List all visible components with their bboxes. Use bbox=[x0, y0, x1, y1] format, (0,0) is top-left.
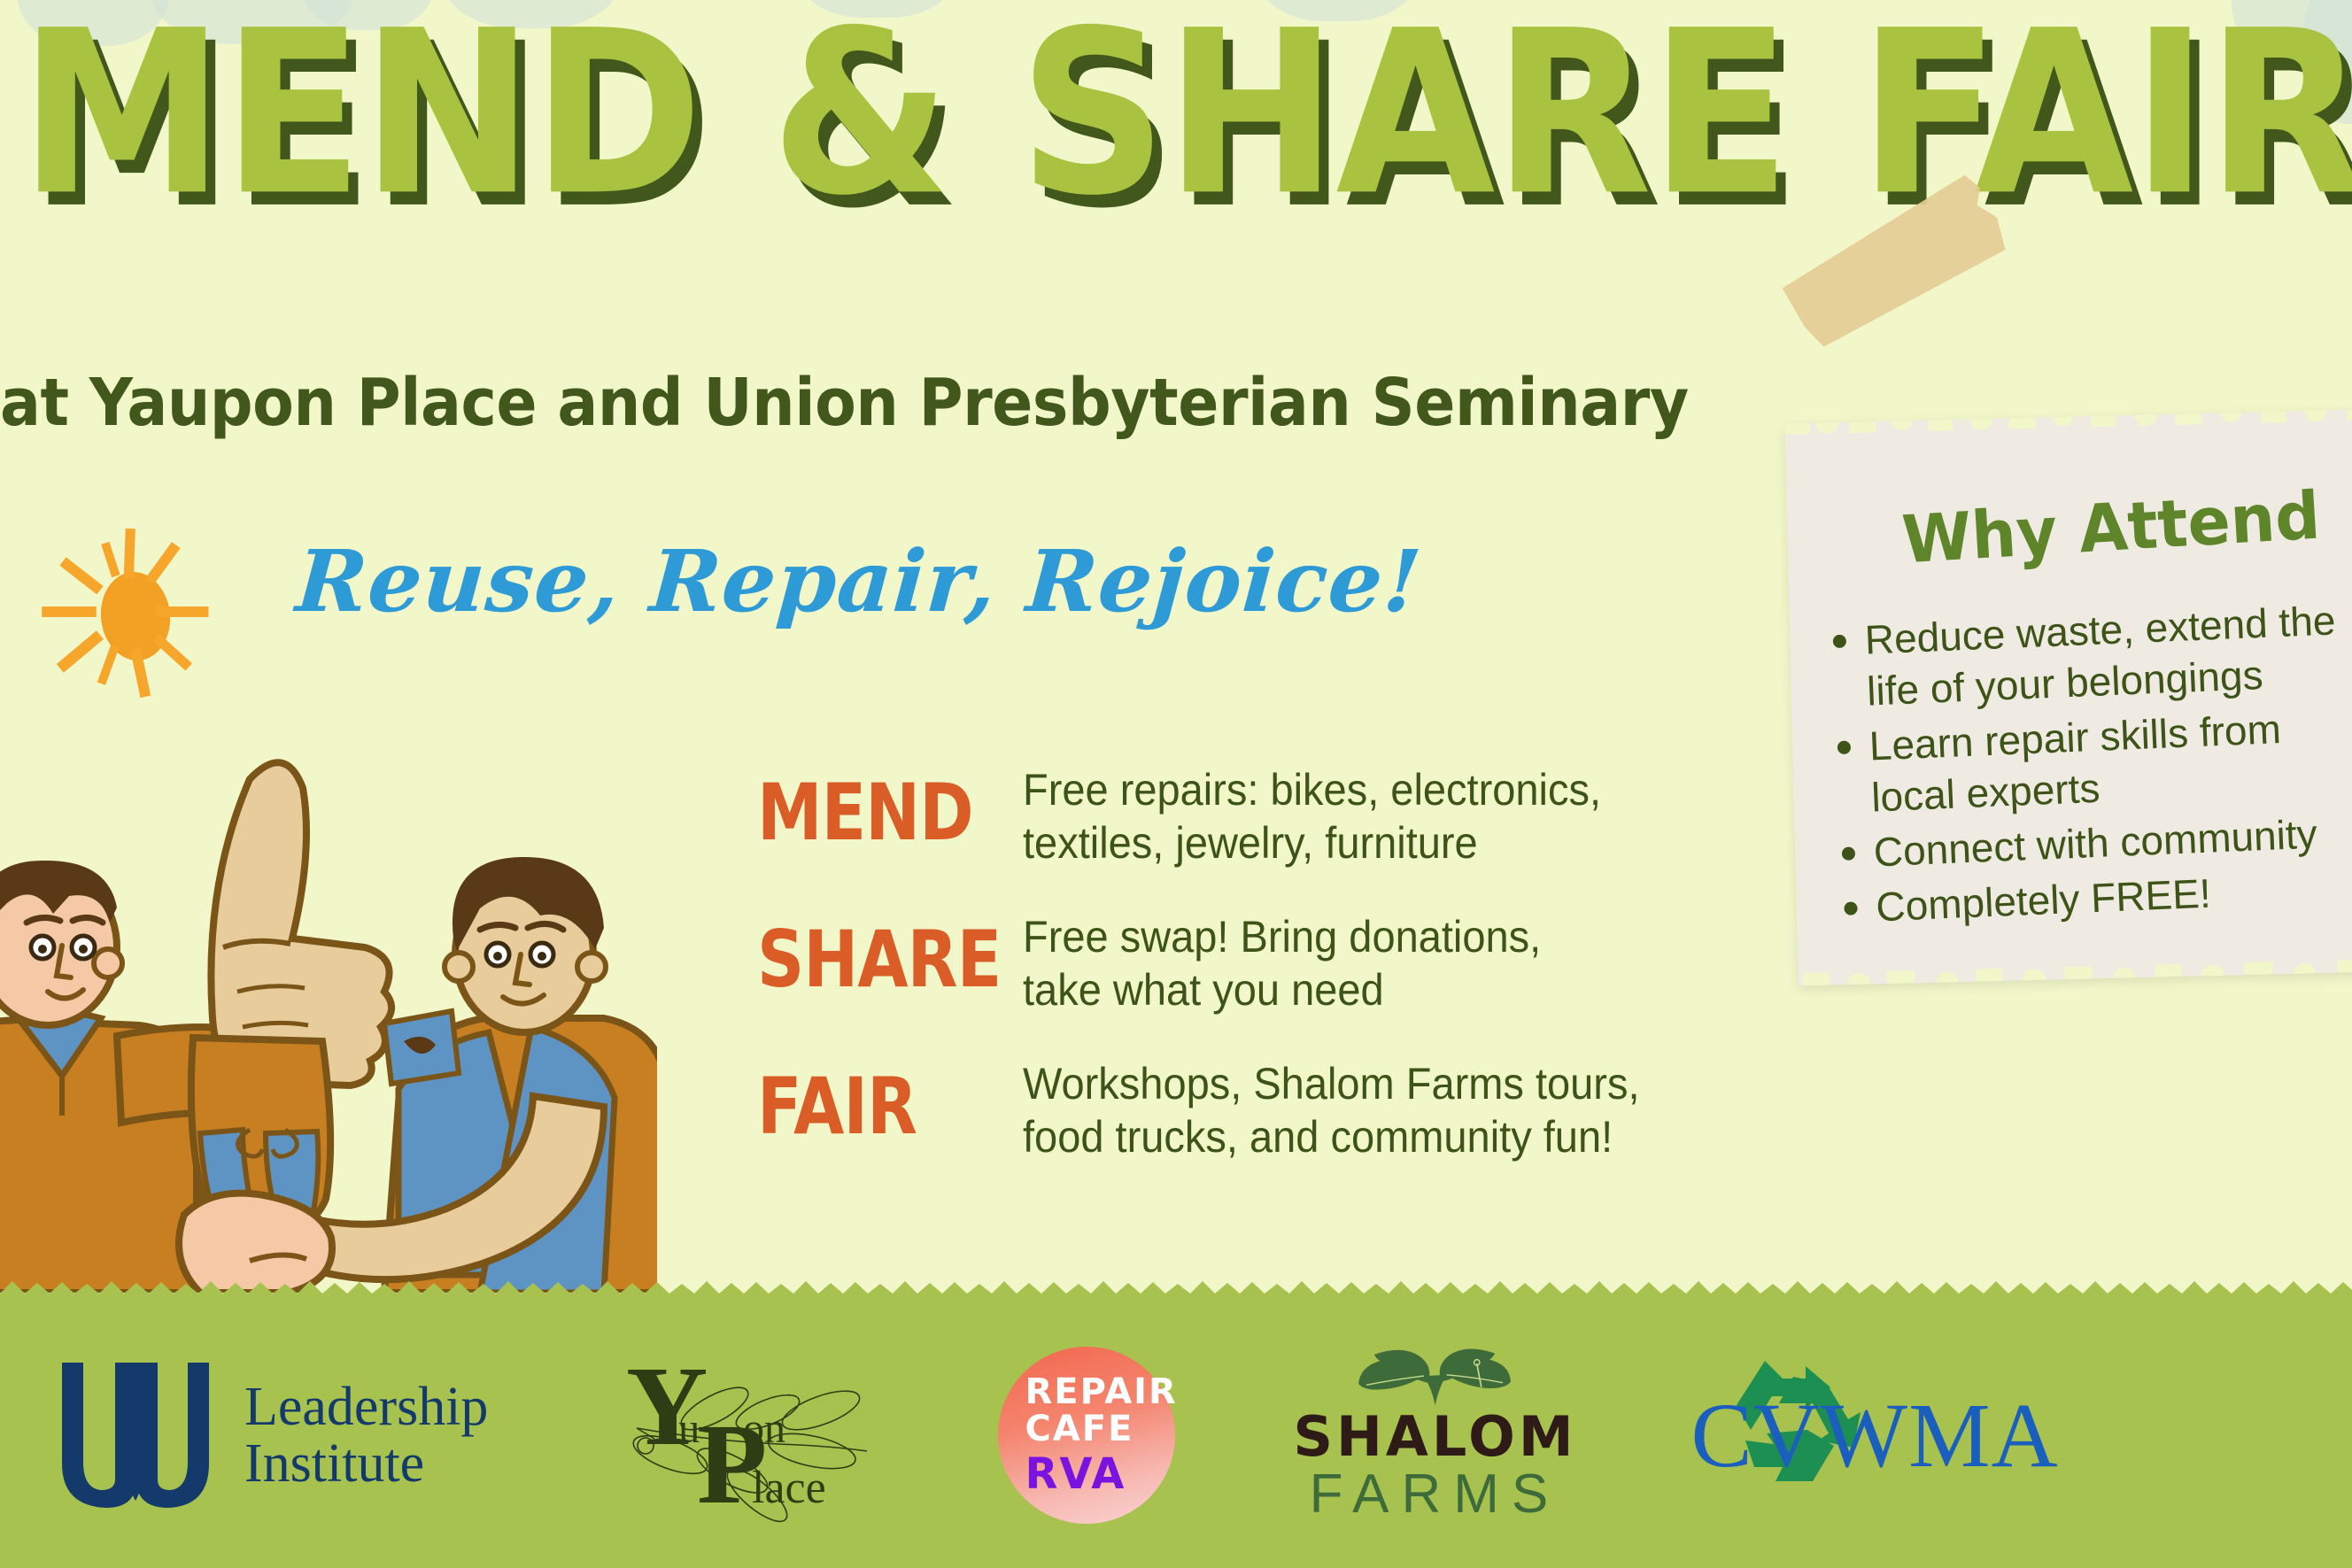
tagline: Reuse, Repair, Rejoice! bbox=[293, 531, 1425, 631]
sun-ray bbox=[101, 542, 120, 577]
sun-ray bbox=[157, 606, 209, 617]
repair-cafe-line-1: REPAIR bbox=[1025, 1373, 1177, 1410]
logo-line-2: Institute bbox=[244, 1435, 488, 1492]
torn-paper-edge-bottom bbox=[1799, 958, 2352, 985]
sun-ray bbox=[124, 529, 135, 578]
logo-repair-cafe-rva: REPAIR CAFE RVA bbox=[998, 1347, 1175, 1524]
svg-text:on: on bbox=[743, 1405, 785, 1452]
yaupon-place-mark-icon: Y au P on lace bbox=[601, 1347, 894, 1524]
list-item: Learn repair skills from local experts bbox=[1868, 697, 2352, 823]
repair-cafe-line-3: RVA bbox=[1025, 1451, 1126, 1497]
offering-desc-fair: Workshops, Shalom Farms tours, food truc… bbox=[1023, 1057, 1640, 1163]
sun-icon bbox=[19, 498, 241, 719]
why-attend-note: Why Attend Reduce waste, extend the life… bbox=[1784, 409, 2352, 986]
offering-key-share: SHARE bbox=[757, 910, 991, 1005]
two-people-handshake-illustration bbox=[0, 726, 657, 1293]
sun-ray bbox=[57, 630, 104, 672]
sun-ray bbox=[97, 645, 120, 684]
offering-row-share: SHARE Free swap! Bring donations, take w… bbox=[757, 910, 1758, 1025]
shalom-farms-line-1: SHALOM bbox=[1293, 1409, 1576, 1465]
sun-ray bbox=[145, 542, 180, 584]
offering-key-mend: MEND bbox=[757, 763, 991, 858]
offering-desc-mend: Free repairs: bikes, electronics, textil… bbox=[1023, 763, 1601, 869]
repair-cafe-line-2: CAFE bbox=[1025, 1410, 1133, 1448]
sun-ray bbox=[59, 557, 103, 594]
list-item: Reduce waste, extend the life of your be… bbox=[1864, 591, 2352, 717]
offering-row-fair: FAIR Workshops, Shalom Farms tours, food… bbox=[757, 1057, 1758, 1172]
shalom-farms-leaves-icon bbox=[1288, 1347, 1581, 1409]
svg-text:au: au bbox=[660, 1405, 700, 1452]
note-heading: Why Attend bbox=[1900, 477, 2323, 578]
logo-shalom-farms: SHALOM FARMS bbox=[1288, 1347, 1581, 1524]
leadership-institute-wordmark: Leadership Institute bbox=[244, 1379, 488, 1492]
sun-ray bbox=[42, 606, 97, 617]
cvwma-wordmark: CVWMA bbox=[1690, 1383, 2058, 1488]
sun-ray bbox=[152, 633, 192, 670]
why-attend-bullets: Reduce waste, extend the life of your be… bbox=[1822, 591, 2352, 938]
logo-yaupon-place: Y au P on lace bbox=[601, 1347, 894, 1524]
offering-key-fair: FAIR bbox=[757, 1057, 991, 1152]
offering-row-mend: MEND Free repairs: bikes, electronics, t… bbox=[757, 763, 1758, 878]
subtitle-location: at Yaupon Place and Union Presbyterian S… bbox=[0, 365, 1689, 441]
leadership-institute-mark-icon bbox=[51, 1356, 220, 1515]
title-block: MEND & SHARE FAIR bbox=[19, 7, 2322, 197]
poster-canvas: MEND & SHARE FAIR at Yaupon Place and Un… bbox=[0, 0, 2352, 1568]
logo-cvwma: CVWMA bbox=[1690, 1347, 2058, 1524]
page-title: MEND & SHARE FAIR bbox=[19, 7, 2352, 220]
logo-leadership-institute: Leadership Institute bbox=[51, 1347, 488, 1524]
shalom-farms-line-2: FARMS bbox=[1310, 1465, 1561, 1524]
sponsor-logo-row: Leadership Institute Y bbox=[0, 1302, 2352, 1568]
offerings-list: MEND Free repairs: bikes, electronics, t… bbox=[757, 763, 1758, 1204]
torn-paper-edge-top bbox=[1784, 409, 2352, 435]
svg-text:lace: lace bbox=[752, 1463, 826, 1513]
offering-desc-share: Free swap! Bring donations, take what yo… bbox=[1023, 910, 1541, 1016]
logo-line-1: Leadership bbox=[244, 1379, 488, 1435]
repair-cafe-circle-icon: REPAIR CAFE RVA bbox=[998, 1347, 1175, 1524]
